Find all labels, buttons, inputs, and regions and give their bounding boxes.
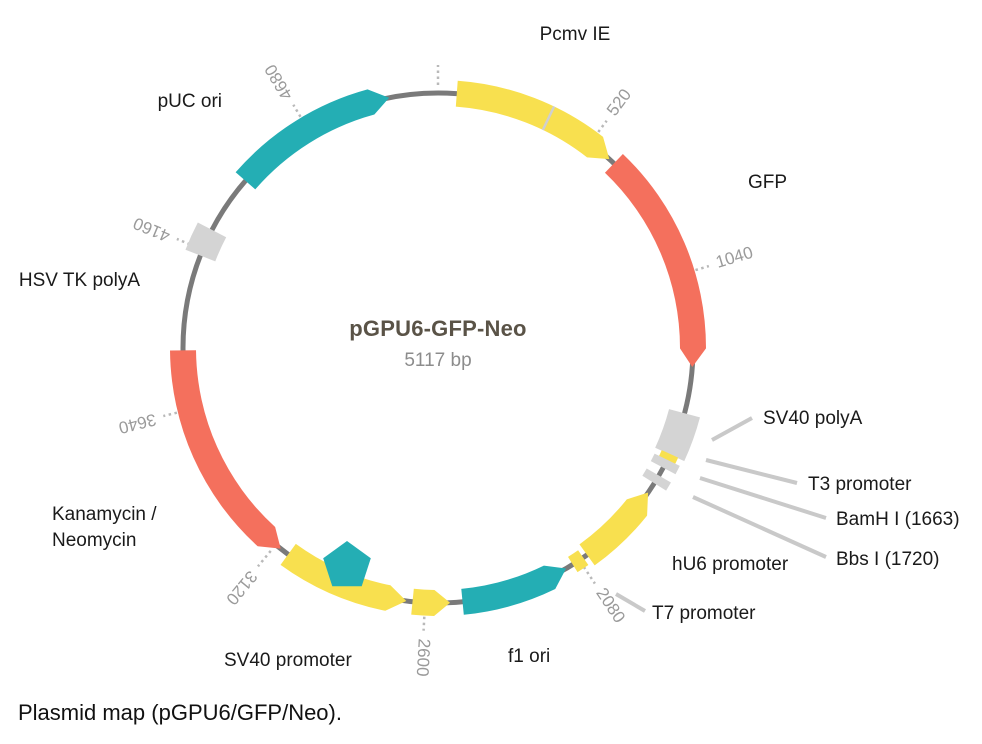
leader-line-bbs-i-1720 [693, 497, 826, 557]
position-tick [258, 551, 271, 566]
feature-label-f1-ori: f1 ori [508, 646, 550, 667]
feature-label-bamh-i-1663: BamH I (1663) [836, 509, 960, 530]
tick-label-2080: 2080 [592, 584, 629, 626]
feature-kanamycin-neomycin[interactable] [170, 350, 281, 548]
leader-line-t3-promoter [706, 460, 797, 483]
leaders-layer [616, 418, 826, 611]
feature-label-kanamycin-neomycin: Kanamycin /Neomycin [52, 504, 157, 551]
feature-label-t7-promoter: T7 promoter [652, 603, 756, 624]
feature-label-bbs-i-1720: Bbs I (1720) [836, 549, 940, 570]
feature-small-arrow[interactable] [411, 589, 450, 616]
tick-label-3120: 3120 [222, 567, 261, 608]
figure-caption: Plasmid map (pGPU6/GFP/Neo). [18, 700, 342, 726]
tick-label-2600: 2600 [413, 638, 434, 677]
feature-label-pcmv-ie: Pcmv IE [540, 24, 611, 45]
feature-puc-ori[interactable] [236, 89, 390, 189]
feature-pcmv-ie[interactable] [456, 81, 610, 159]
position-tick [584, 567, 595, 584]
tick-label-4680: 4680 [261, 61, 297, 103]
feature-f1-ori[interactable] [461, 566, 566, 615]
feature-label-puc-ori: pUC ori [158, 91, 222, 112]
feature-label-gfp: GFP [748, 172, 787, 193]
feature-gfp[interactable] [605, 154, 706, 367]
feature-label-hu6-promoter: hU6 promoter [672, 554, 789, 575]
tick-label-3640: 3640 [117, 410, 158, 438]
center-text-layer: pGPU6-GFP-Neo 5117 bp [349, 316, 526, 371]
feature-label-t3-promoter: T3 promoter [808, 474, 912, 495]
feature-label-sv40-polya: SV40 polyA [763, 408, 863, 429]
tick-label-520: 520 [603, 85, 635, 119]
leader-line-sv40-polya [712, 418, 752, 440]
tick-label-1040: 1040 [713, 243, 755, 272]
plasmid-circle-svg: 5201040208026003120364041604680 Pcmv IEG… [0, 0, 982, 700]
plasmid-length: 5117 bp [404, 350, 471, 371]
feature-marker-pentagon[interactable] [323, 541, 371, 586]
tick-label-4160: 4160 [131, 213, 173, 245]
feature-label-sv40-promoter: SV40 promoter [224, 650, 352, 671]
feature-hsv-tk-polya[interactable] [185, 222, 226, 261]
labels-layer: Pcmv IEGFPSV40 polyAT3 promoterBamH I (1… [19, 24, 960, 671]
features-layer [170, 81, 706, 616]
plasmid-map-figure: 5201040208026003120364041604680 Pcmv IEG… [0, 0, 982, 744]
feature-label-hsv-tk-polya: HSV TK polyA [19, 270, 140, 291]
feature-bbs-i-1720[interactable] [642, 469, 671, 491]
feature-hu6-promoter[interactable] [579, 493, 648, 566]
plasmid-name: pGPU6-GFP-Neo [349, 316, 526, 341]
